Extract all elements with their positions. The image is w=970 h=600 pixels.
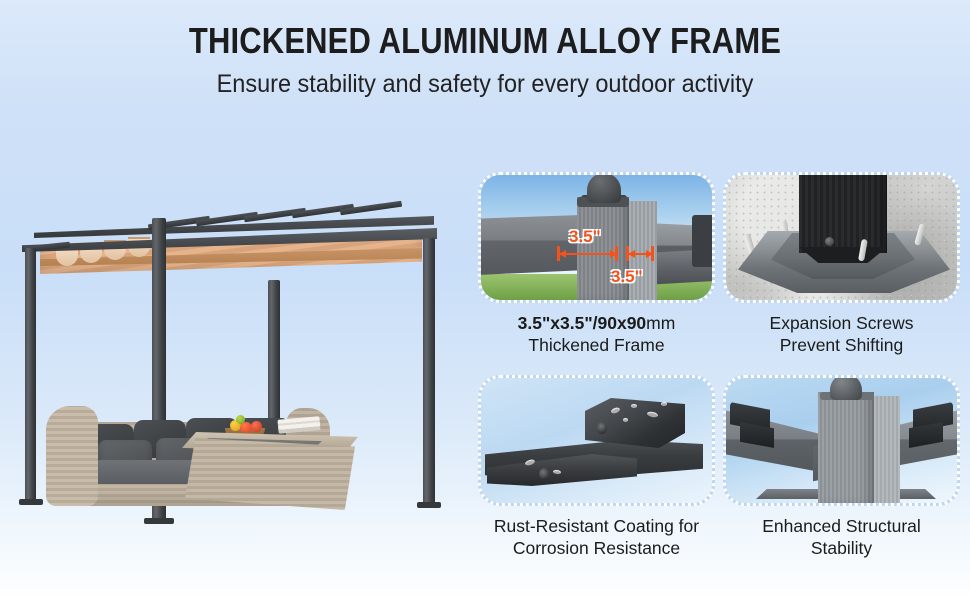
header-block: THICKENED ALUMINUM ALLOY FRAME Ensure st… [0,22,970,99]
fruit [251,421,262,432]
panel-caption: Enhanced Structural Stability [717,515,966,560]
water-droplet [623,418,628,422]
sofa-arm-left [46,406,98,506]
panel-image-frame [723,172,960,303]
bolt-icon [825,237,834,246]
caption-line-1: Rust-Resistant Coating for [472,515,721,537]
page-title: THICKENED ALUMINUM ALLOY FRAME [68,22,902,60]
post-front-face [818,392,874,505]
beam-hole [539,468,549,480]
caption-line-2: Thickened Frame [472,334,721,356]
panel-image-frame [723,375,960,506]
base-plate-scene [726,175,957,300]
coffee-table-body [185,438,355,510]
post-column [799,172,887,253]
caption-line-1: Enhanced Structural [717,515,966,537]
pergola-rafter [340,201,402,216]
post-cap-dome-icon [587,173,621,203]
caption-line-2: Corrosion Resistance [472,537,721,559]
page-subtitle: Ensure stability and safety for every ou… [29,70,941,99]
dimension-label-depth: 3.5" [611,267,643,287]
fruit [236,415,245,424]
left-beam [478,215,581,275]
pergola-post-foot [19,499,43,505]
pergola-post [423,238,435,506]
pergola-post-foot [417,502,441,508]
panel-image-frame [478,375,715,506]
caption-unit-part: mm [646,313,675,333]
x-brace-joint-scene [726,378,957,503]
beam-hole [597,422,607,434]
arrow-head-icon [628,250,635,258]
coated-beams-scene [481,378,712,503]
arrow-head-icon [559,250,566,258]
post-cap-dome-icon [830,375,862,400]
pergola-post [25,248,36,503]
pergola-post-foot [144,518,174,524]
panel-image-frame: 3.5" 3.5" [478,172,715,303]
panel-caption: 3.5"x3.5"/90x90mm Thickened Frame [472,312,721,357]
beam-end-cap [692,215,714,267]
caption-bold-part: 3.5"x3.5"/90x90 [518,313,647,333]
post-side-face [874,396,900,505]
caption-line-1: Expansion Screws [717,312,966,334]
arrow-head-icon [646,250,653,258]
arrow-head-icon [610,250,617,258]
caption-line-1: 3.5"x3.5"/90x90mm [472,312,721,334]
post-top-dimension-scene: 3.5" 3.5" [481,175,712,300]
caption-line-2: Stability [717,537,966,559]
hero-product-image [0,180,470,580]
panel-caption: Rust-Resistant Coating for Corrosion Res… [472,515,721,560]
dimension-line-width [559,253,617,255]
dimension-label-width: 3.5" [569,227,601,247]
infographic-canvas: THICKENED ALUMINUM ALLOY FRAME Ensure st… [0,0,970,600]
caption-line-2: Prevent Shifting [717,334,966,356]
water-droplet [661,402,667,406]
panel-caption: Expansion Screws Prevent Shifting [717,312,966,357]
water-droplet [631,404,637,408]
